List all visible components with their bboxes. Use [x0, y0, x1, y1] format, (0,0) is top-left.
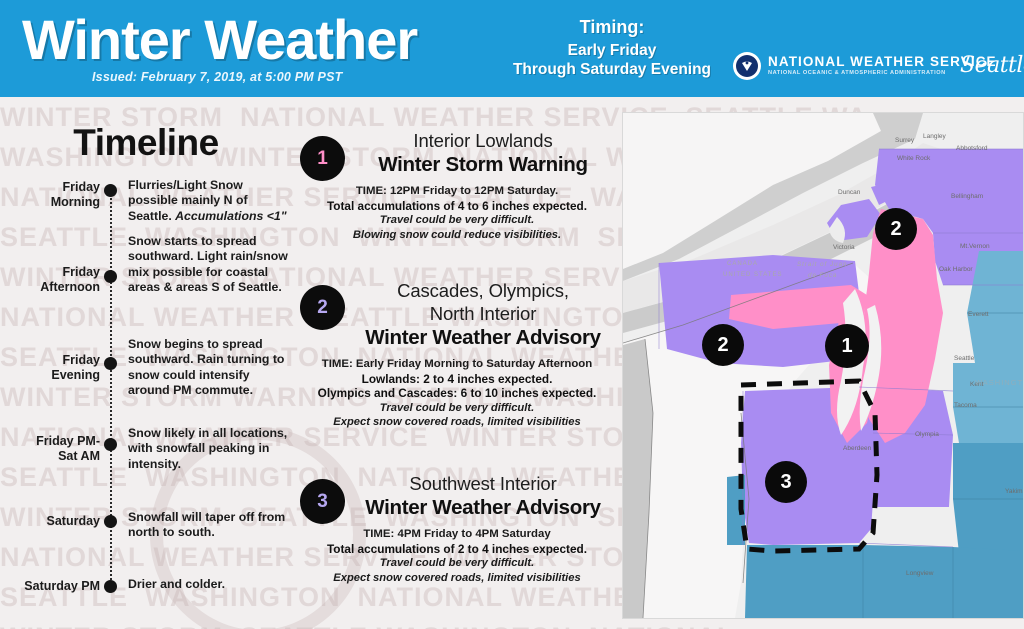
svg-text:Oak Harbor: Oak Harbor	[939, 266, 973, 273]
alert-region-line-1: Cascades, Olympics,	[344, 279, 622, 302]
timeline-text: Drier and colder.	[128, 577, 288, 592]
timeline-text: Snow likely in all locations, with snowf…	[128, 426, 288, 472]
alert-note-1: Travel could be very difficult.	[292, 556, 622, 571]
alert-badge-number: 1	[317, 148, 328, 170]
alert-heading-1: Interior Lowlands Winter Storm Warning	[344, 129, 622, 177]
alert-block-1: 1 Interior Lowlands Winter Storm Warning…	[292, 129, 622, 242]
alerts-panel: 1 Interior Lowlands Winter Storm Warning…	[292, 97, 622, 629]
alert-region: Southwest Interior	[344, 472, 622, 495]
alert-accum-2: Olympics and Cascades: 6 to 10 inches ex…	[292, 386, 622, 401]
nws-logo: NATIONAL WEATHER SERVICE NATIONAL OCEANI…	[733, 52, 997, 80]
svg-text:de Fuca: de Fuca	[808, 272, 837, 279]
map-badge-2-north[interactable]: 2	[875, 208, 917, 250]
alert-details-2: TIME: Early Friday Morning to Saturday A…	[292, 357, 622, 430]
alert-badge-1: 1	[300, 136, 345, 181]
alert-note-1: Travel could be very difficult.	[292, 401, 622, 416]
timeline-when: Saturday PM	[0, 579, 100, 594]
svg-text:Seattle: Seattle	[954, 355, 975, 362]
timeline-panel: Timeline FridayMorning Flurries/Light Sn…	[0, 97, 292, 629]
svg-text:Duncan: Duncan	[838, 189, 861, 196]
svg-text:Olympia: Olympia	[915, 431, 939, 438]
timing-line-1: Early Friday	[500, 41, 724, 60]
winter-weather-infographic: WINTER STORM NATIONAL WEATHER SERVICE SE…	[0, 0, 1024, 629]
alert-badge-2: 2	[300, 285, 345, 330]
svg-text:Yakima: Yakima	[1005, 488, 1023, 495]
alert-accum: Total accumulations of 4 to 6 inches exp…	[292, 199, 622, 214]
svg-text:Surrey: Surrey	[895, 137, 915, 144]
office-name: Seattle	[960, 53, 1024, 78]
svg-text:White Rock: White Rock	[897, 155, 931, 162]
timeline-when: FridayEvening	[0, 353, 100, 383]
timeline-dot-icon	[104, 184, 117, 197]
timing-label: Timing:	[500, 17, 724, 38]
svg-text:CANADA: CANADA	[727, 261, 758, 267]
alert-block-3: 3 Southwest Interior Winter Weather Advi…	[292, 472, 622, 585]
alert-heading-2: Cascades, Olympics, North Interior Winte…	[344, 279, 622, 350]
alert-badge-number: 3	[317, 491, 328, 513]
alert-type: Winter Storm Warning	[344, 152, 622, 177]
svg-text:UNITED STATES: UNITED STATES	[723, 272, 782, 278]
other-zone-south	[745, 545, 953, 618]
alert-time: TIME: 4PM Friday to 4PM Saturday	[292, 527, 622, 542]
map-state-label: WASHINGTON	[975, 378, 1023, 387]
hazard-map[interactable]: Surrey Langley Abbotsford White Rock Dun…	[622, 112, 1024, 619]
timeline-dot-icon	[104, 270, 117, 283]
noaa-seal-icon	[733, 52, 761, 80]
alert-note-2: Expect snow covered roads, limited visib…	[292, 415, 622, 430]
alert-badge-3: 3	[300, 479, 345, 524]
timeline-text: Flurries/Light Snow possible mainly N of…	[128, 178, 288, 224]
alert-details-1: TIME: 12PM Friday to 12PM Saturday. Tota…	[292, 184, 622, 242]
other-zone-yakima	[953, 443, 1023, 553]
map-badge-2-olympics[interactable]: 2	[702, 324, 744, 366]
svg-text:Tacoma: Tacoma	[954, 402, 977, 409]
timeline-text: Snow begins to spread southward. Rain tu…	[128, 337, 288, 398]
timing-block: Timing: Early Friday Through Saturday Ev…	[500, 17, 724, 79]
timeline-text: Snowfall will taper off from north to so…	[128, 510, 288, 541]
alert-note-2: Blowing snow could reduce visibilities.	[292, 228, 622, 243]
svg-text:Everett: Everett	[968, 311, 989, 318]
alert-details-3: TIME: 4PM Friday to 4PM Saturday Total a…	[292, 527, 622, 585]
timing-line-2: Through Saturday Evening	[500, 60, 724, 79]
timeline-text: Snow starts to spread southward. Light r…	[128, 234, 288, 295]
alert-heading-3: Southwest Interior Winter Weather Adviso…	[344, 472, 622, 520]
timeline-when: Saturday	[0, 514, 100, 529]
svg-text:Mt.Vernon: Mt.Vernon	[960, 243, 990, 250]
map-badge-1[interactable]: 1	[825, 324, 869, 368]
alert-type: Winter Weather Advisory	[344, 325, 622, 350]
svg-text:Longview: Longview	[906, 570, 934, 577]
svg-text:Langley: Langley	[923, 133, 947, 140]
svg-text:Victoria: Victoria	[833, 244, 855, 251]
timeline-when: Friday PM-Sat AM	[0, 434, 100, 464]
svg-text:Abbotsford: Abbotsford	[956, 145, 988, 152]
timeline-dot-icon	[104, 438, 117, 451]
timeline-title: Timeline	[0, 122, 292, 164]
alert-note-1: Travel could be very difficult.	[292, 213, 622, 228]
timeline-when: FridayAfternoon	[0, 265, 100, 295]
other-zone-southeast	[953, 547, 1023, 618]
page-header: Winter Weather Issued: February 7, 2019,…	[0, 0, 1024, 97]
alert-type: Winter Weather Advisory	[344, 495, 622, 520]
alert-time: TIME: Early Friday Morning to Saturday A…	[292, 357, 622, 372]
svg-text:Aberdeen: Aberdeen	[843, 445, 872, 452]
timeline-dot-icon	[104, 580, 117, 593]
svg-text:Strait of Juan: Strait of Juan	[797, 261, 847, 268]
alert-region-line-2: North Interior	[344, 302, 622, 325]
page-title: Winter Weather	[22, 10, 417, 70]
map-badge-3[interactable]: 3	[765, 461, 807, 503]
svg-text:WASHINGTON: WASHINGTON	[975, 378, 1023, 387]
timeline-dot-icon	[104, 357, 117, 370]
alert-block-2: 2 Cascades, Olympics, North Interior Win…	[292, 279, 622, 430]
alert-time: TIME: 12PM Friday to 12PM Saturday.	[292, 184, 622, 199]
issued-timestamp: Issued: February 7, 2019, at 5:00 PM PST	[92, 70, 342, 84]
timeline-when: FridayMorning	[0, 180, 100, 210]
alert-badge-number: 2	[317, 297, 328, 319]
alert-region: Interior Lowlands	[344, 129, 622, 152]
alert-accum: Lowlands: 2 to 4 inches expected.	[292, 372, 622, 387]
svg-text:Bellingham: Bellingham	[951, 193, 983, 200]
alert-note-2: Expect snow covered roads, limited visib…	[292, 571, 622, 586]
timeline-dot-icon	[104, 515, 117, 528]
alert-accum: Total accumulations of 2 to 4 inches exp…	[292, 542, 622, 557]
